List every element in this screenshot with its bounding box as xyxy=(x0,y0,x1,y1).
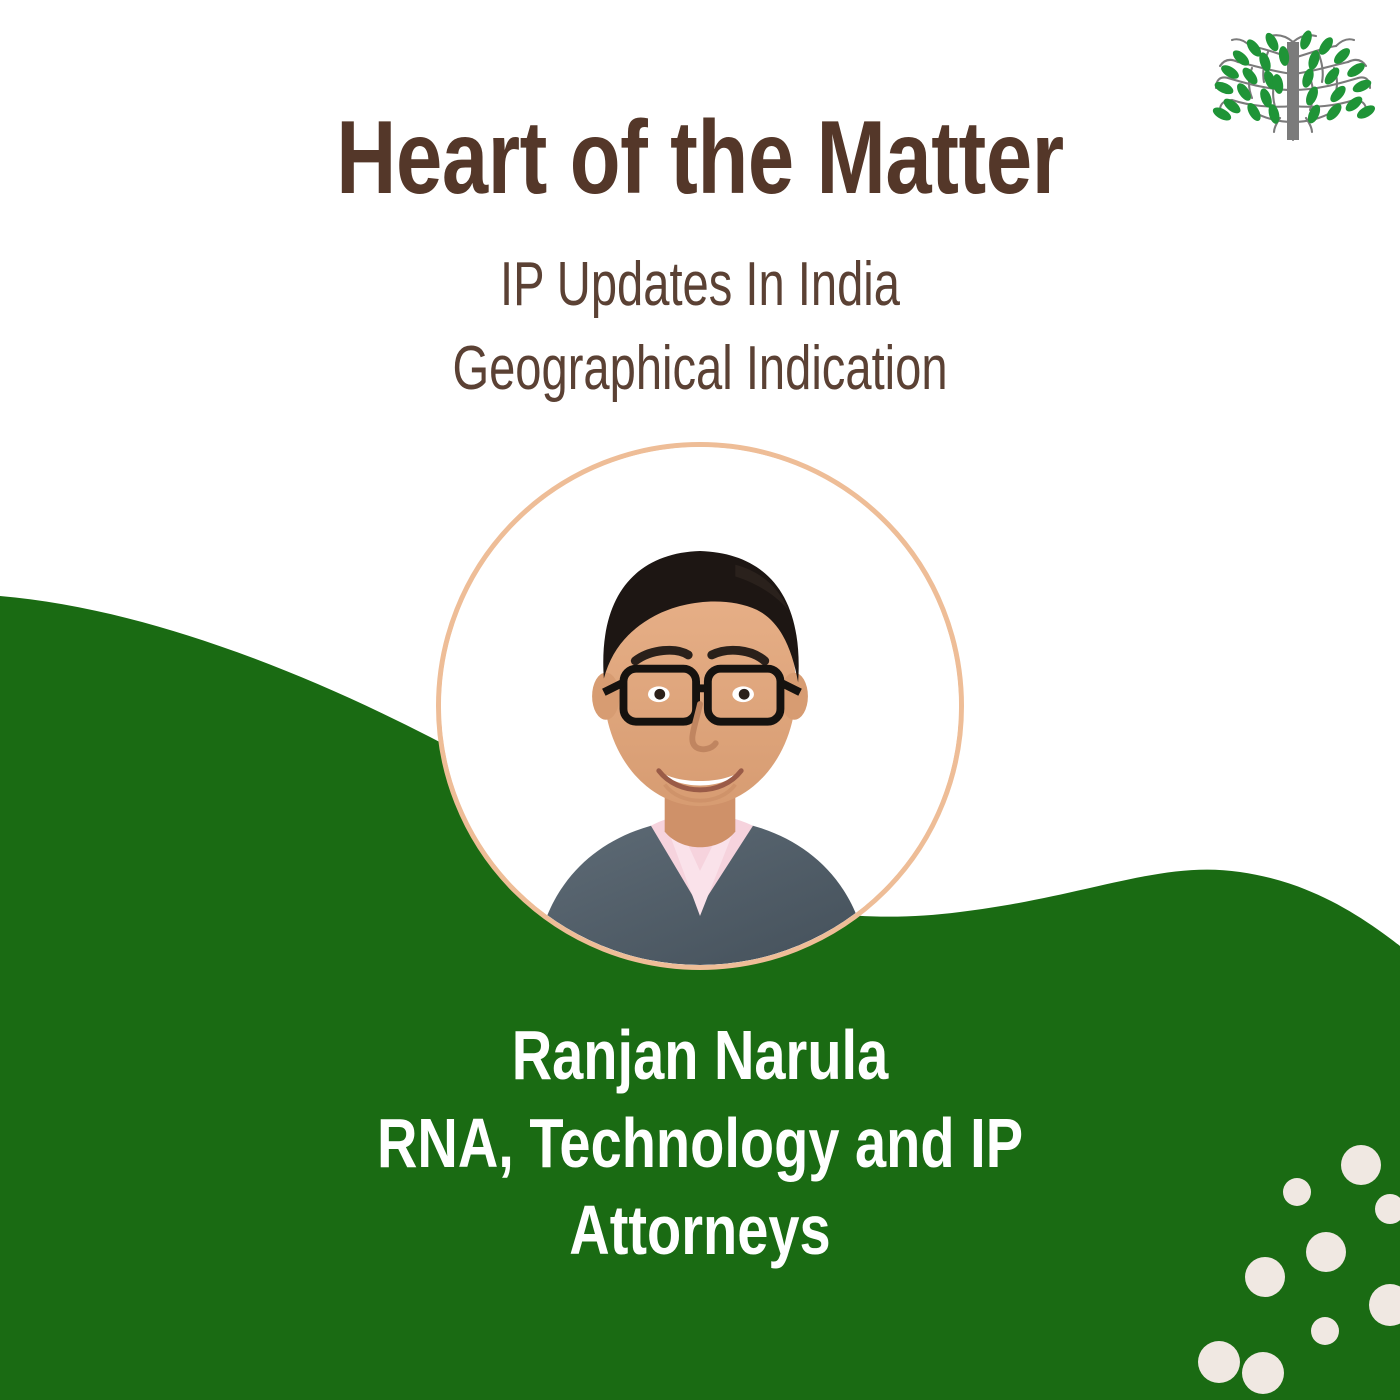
tree-logo-icon xyxy=(1208,18,1378,143)
speaker-portrait xyxy=(436,442,964,970)
speaker-org-line-2: Attorneys xyxy=(140,1187,1260,1275)
subtitle-line-1: IP Updates In India xyxy=(168,243,1232,327)
speaker-block: Ranjan Narula RNA, Technology and IP Att… xyxy=(0,1012,1400,1275)
speaker-org-line-1: RNA, Technology and IP xyxy=(140,1100,1260,1188)
speaker-portrait-image xyxy=(441,447,959,965)
episode-cover: Heart of the Matter IP Updates In India … xyxy=(0,0,1400,1400)
page-title: Heart of the Matter xyxy=(140,108,1260,209)
header-block: Heart of the Matter IP Updates In India … xyxy=(0,108,1400,412)
page-subtitle: IP Updates In India Geographical Indicat… xyxy=(168,243,1232,412)
speaker-name: Ranjan Narula xyxy=(140,1012,1260,1100)
subtitle-line-2: Geographical Indication xyxy=(168,327,1232,411)
